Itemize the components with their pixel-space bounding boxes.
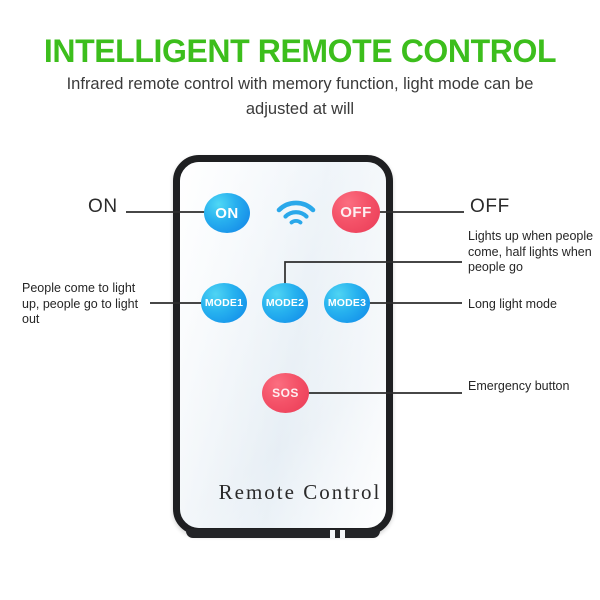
infographic-canvas: INTELLIGENT REMOTE CONTROL Infrared remo… xyxy=(0,0,600,600)
callout-off-label: OFF xyxy=(470,199,510,215)
mode3-button[interactable]: MODE3 xyxy=(324,283,370,323)
remote-base-notch-right xyxy=(340,530,345,538)
callout-on-label: ON xyxy=(88,199,118,215)
callout-sos-label: Emergency button xyxy=(468,379,588,395)
mode2-button[interactable]: MODE2 xyxy=(262,283,308,323)
on-button[interactable]: ON xyxy=(204,193,250,233)
remote-base-lip xyxy=(186,529,380,538)
off-button[interactable]: OFF xyxy=(332,191,380,233)
sos-button[interactable]: SOS xyxy=(262,373,309,413)
wifi-icon xyxy=(275,198,317,228)
page-subtitle: Infrared remote control with memory func… xyxy=(60,72,540,122)
callout-mode3-label: Long light mode xyxy=(468,297,598,313)
mode1-button[interactable]: MODE1 xyxy=(201,283,247,323)
page-title: INTELLIGENT REMOTE CONTROL xyxy=(0,33,600,70)
remote-brand-label: Remote Control xyxy=(0,480,600,505)
callout-mode1-label: People come to light up, people go to li… xyxy=(22,281,152,328)
remote-base-notch-left xyxy=(330,530,335,538)
callout-mode2-label: Lights up when people come, half lights … xyxy=(468,229,598,276)
